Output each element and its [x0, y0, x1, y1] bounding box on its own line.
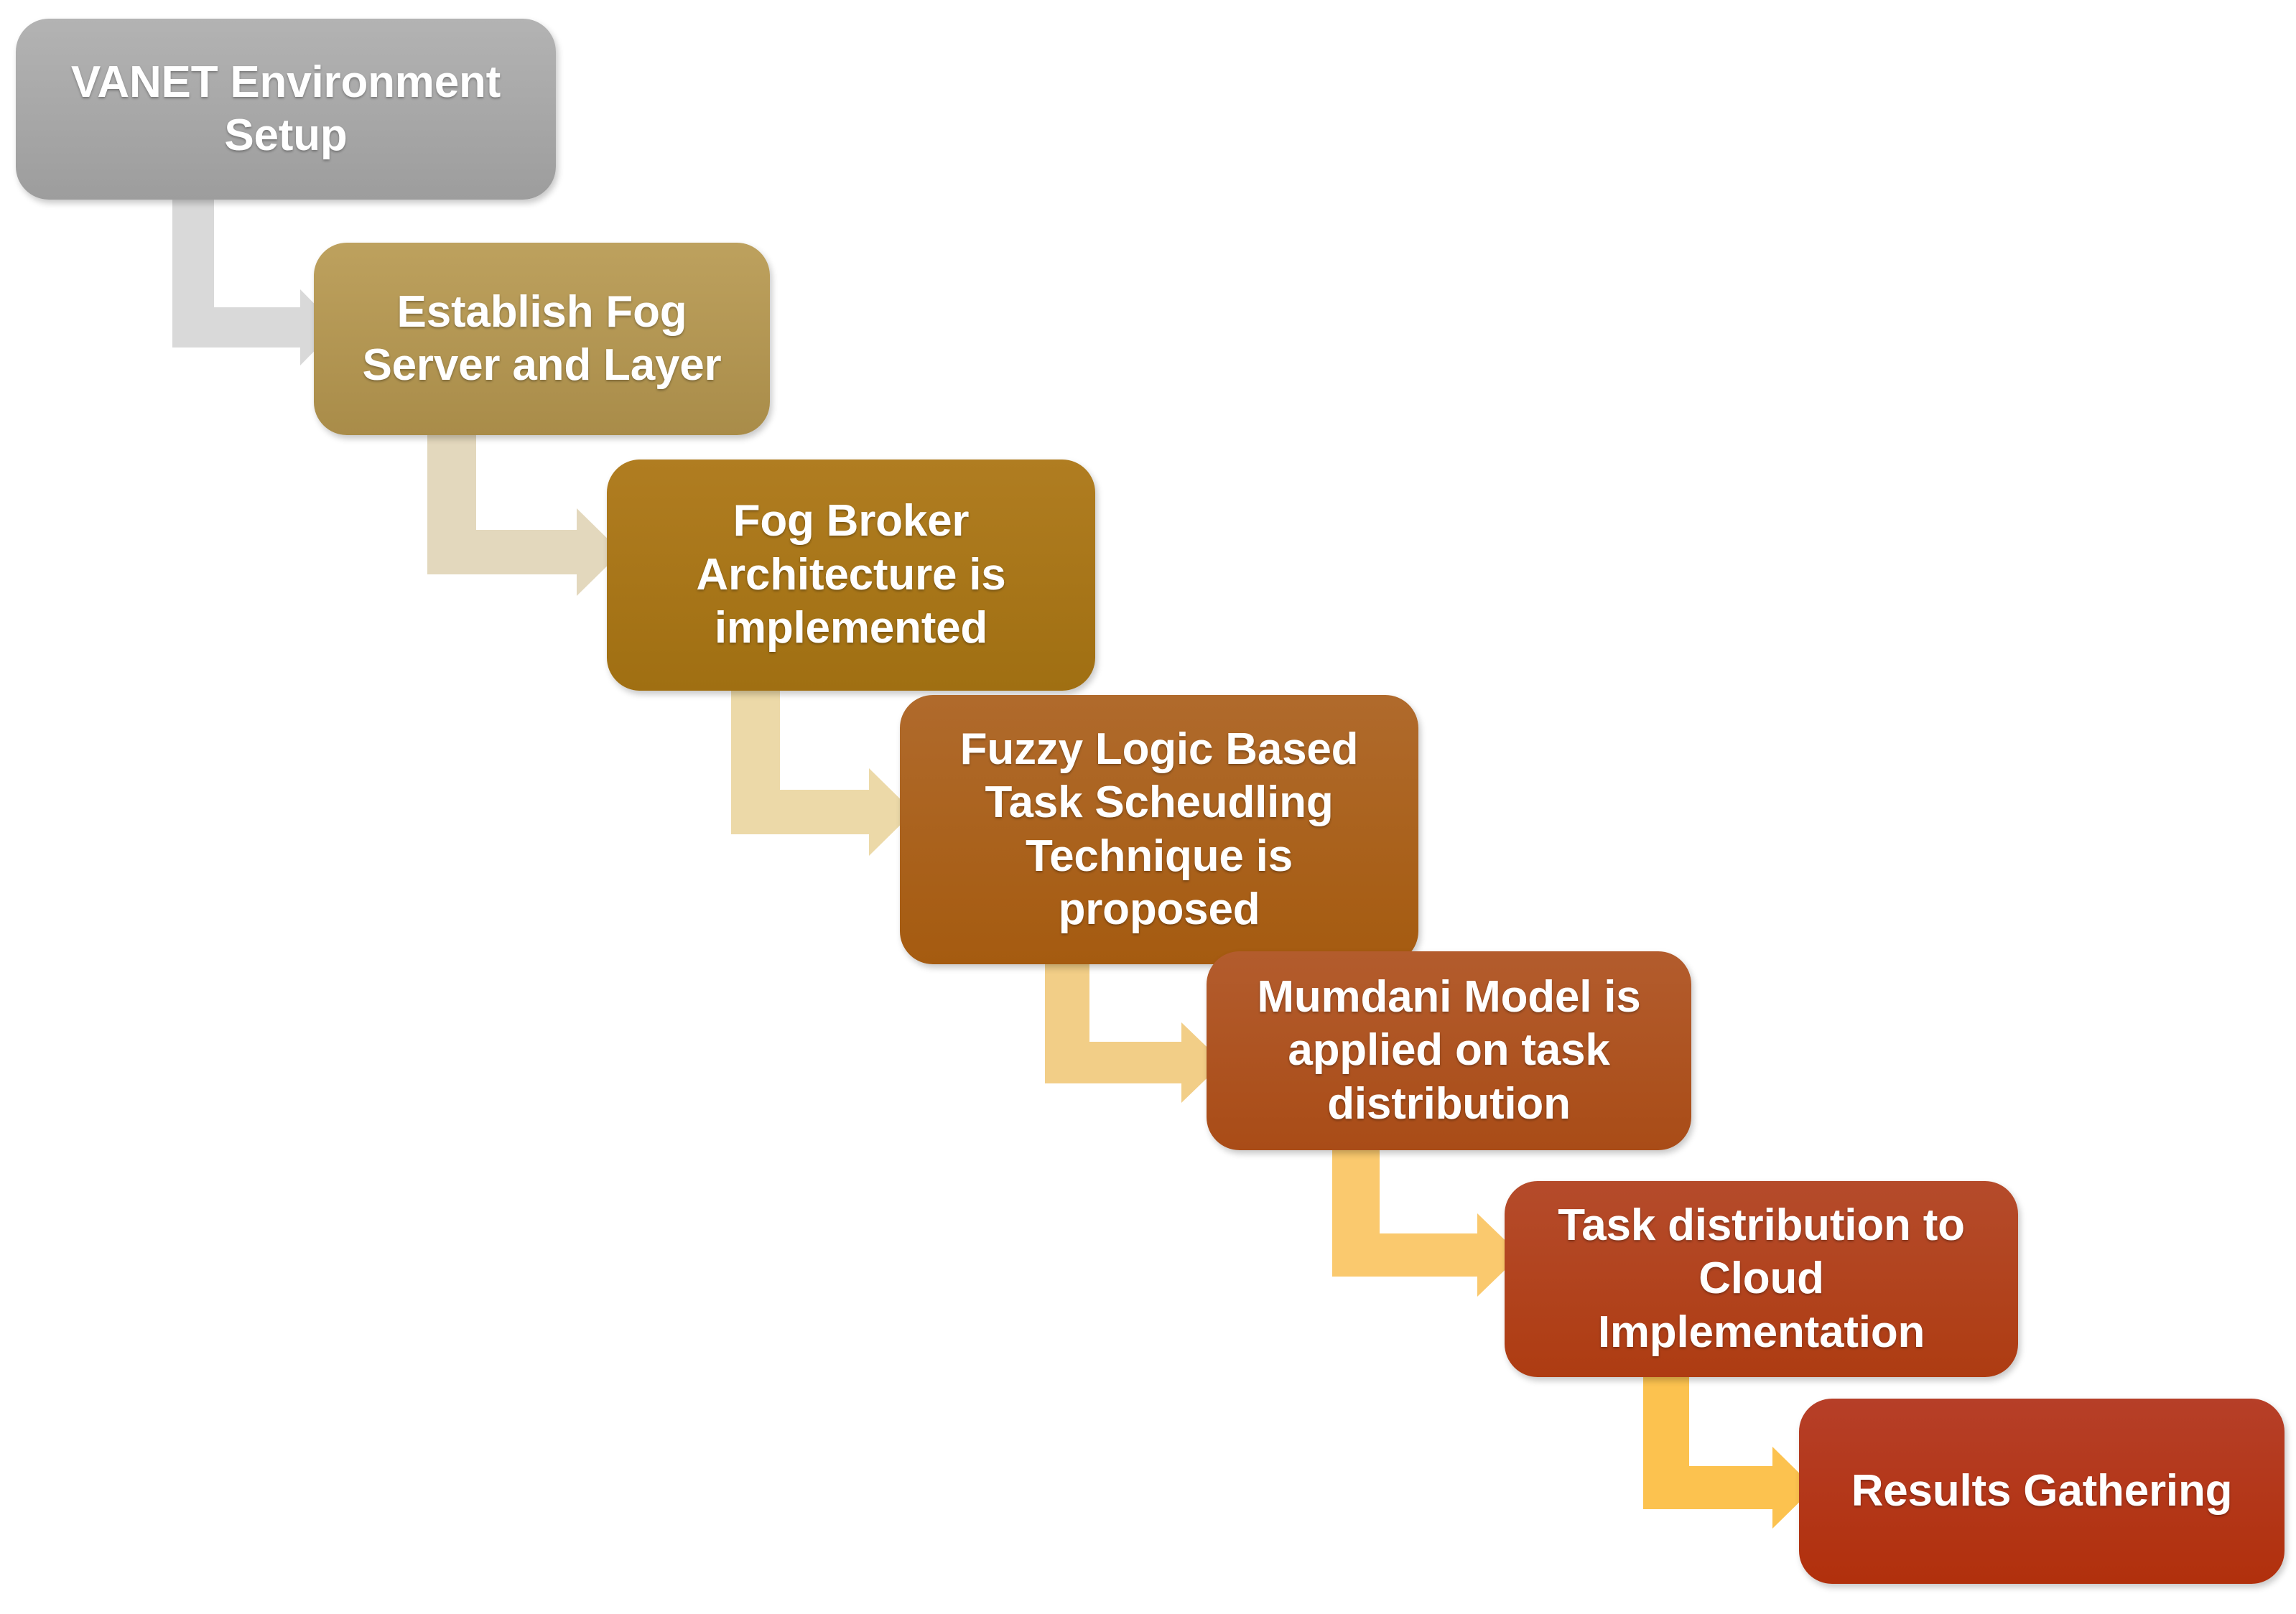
node-label: Fuzzy Logic Based Task Scheudling Techni… — [919, 723, 1400, 937]
node-label: VANET Environment Setup — [34, 56, 537, 163]
elbow-arrow-connector — [1045, 957, 1223, 1116]
node-label: Task distribution to Cloud Implementatio… — [1523, 1199, 1999, 1359]
flowchart-node-mumdani-model-is-applied-on-task-distribution[interactable]: Mumdani Model is applied on task distrib… — [1207, 951, 1691, 1150]
arrow-icon — [731, 684, 914, 869]
node-label: Establish Fog Server and Layer — [333, 286, 751, 393]
flowchart-canvas: VANET Environment SetupEstablish Fog Ser… — [0, 0, 2296, 1614]
flowchart-node-establish-fog-server-and-layer[interactable]: Establish Fog Server and Layer — [314, 243, 770, 435]
elbow-arrow-connector — [1332, 1143, 1520, 1305]
flowchart-node-task-distribution-to-cloud-implementation[interactable]: Task distribution to Cloud Implementatio… — [1505, 1181, 2018, 1377]
elbow-arrow-connector — [427, 429, 621, 606]
flowchart-node-vanet-environment-setup[interactable]: VANET Environment Setup — [16, 19, 556, 200]
flowchart-node-fuzzy-logic-based-task-scheduling-technique-is-proposed[interactable]: Fuzzy Logic Based Task Scheudling Techni… — [900, 695, 1418, 964]
flowchart-node-results-gathering[interactable]: Results Gathering — [1799, 1399, 2285, 1584]
elbow-arrow-connector — [172, 194, 338, 373]
arrow-icon — [1045, 957, 1223, 1116]
arrow-icon — [172, 194, 338, 373]
arrow-icon — [1643, 1370, 1814, 1536]
flowchart-node-fog-broker-architecture-is-implemented[interactable]: Fog Broker Architecture is implemented — [607, 460, 1095, 691]
node-label: Fog Broker Architecture is implemented — [626, 495, 1077, 655]
node-label: Mumdani Model is applied on task distrib… — [1225, 971, 1673, 1131]
arrow-icon — [427, 429, 621, 606]
node-label: Results Gathering — [1818, 1465, 2266, 1518]
elbow-arrow-connector — [731, 684, 914, 869]
elbow-arrow-connector — [1643, 1370, 1814, 1536]
arrow-icon — [1332, 1143, 1520, 1305]
